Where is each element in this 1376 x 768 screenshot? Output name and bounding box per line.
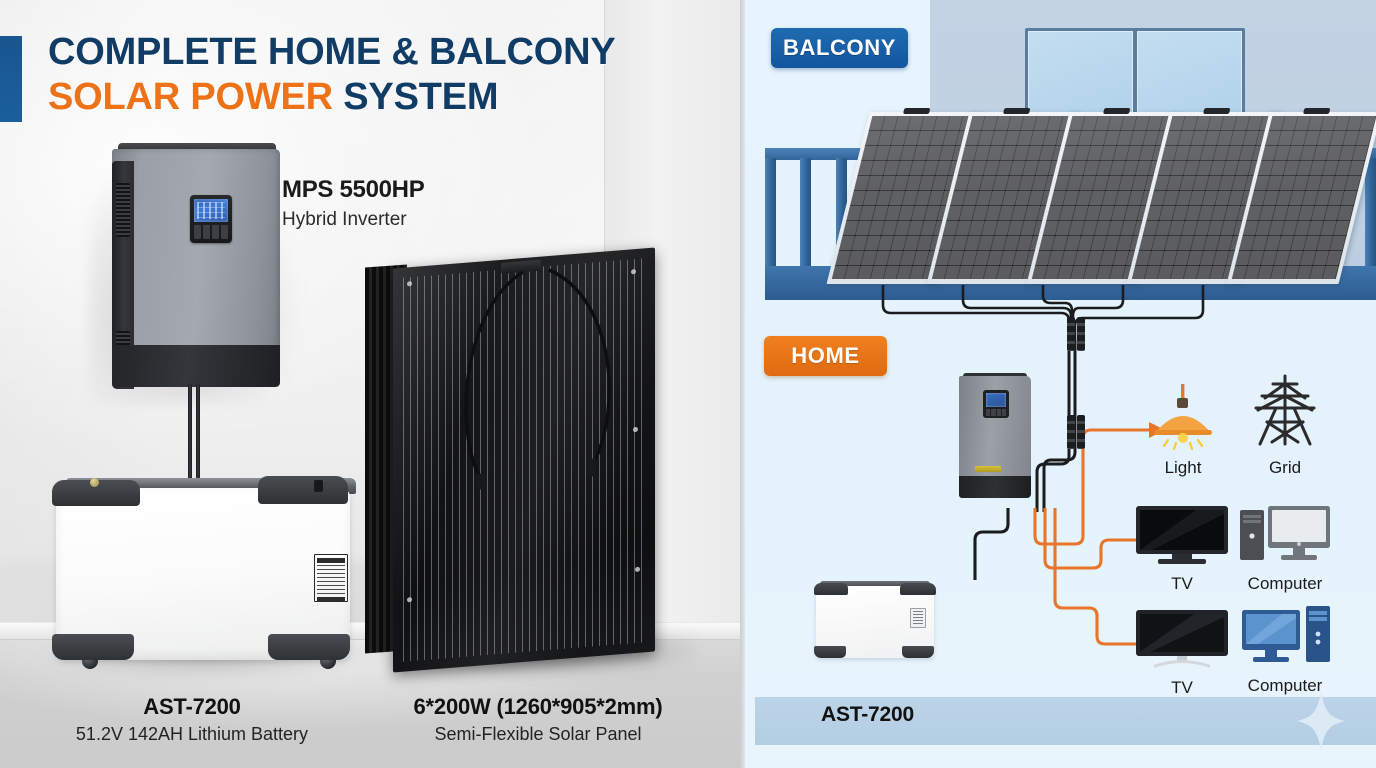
battery-diagram-corner-cap xyxy=(900,583,936,595)
balcony-solar-array xyxy=(790,112,1350,292)
appliance-computer-1: Computer xyxy=(1238,502,1332,594)
battery-caption: AST-7200 51.2V 142AH Lithium Battery xyxy=(42,694,342,745)
inverter-type-name: Hybrid Inverter xyxy=(282,209,424,231)
mc4-connector xyxy=(1077,317,1085,351)
lcd-readout-icon xyxy=(197,202,225,219)
mc4-connector-pair xyxy=(1067,415,1085,449)
panel-junction-box-icon xyxy=(903,108,930,114)
battery-diagram-label xyxy=(910,608,926,628)
window-pane xyxy=(1028,31,1133,115)
battery-diagram-corner-cap xyxy=(814,646,846,658)
title-accent-text: SOLAR POWER xyxy=(48,76,333,118)
product-photo-panel: COMPLETE HOME & BALCONY SOLAR POWER SYST… xyxy=(0,0,740,768)
solar-panel-spec-text: Semi-Flexible Solar Panel xyxy=(368,724,708,745)
solar-panel-product-photo xyxy=(365,258,685,676)
page-title: COMPLETE HOME & BALCONY SOLAR POWER SYST… xyxy=(48,30,718,120)
appliance-light: Light xyxy=(1140,384,1226,478)
inverter-model-name: MPS 5500HP xyxy=(282,176,424,204)
inverter-diagram-bottom xyxy=(959,476,1031,498)
mc4-connector-pair xyxy=(1067,317,1085,351)
keypad-key xyxy=(221,225,228,239)
inverter-diagram-body xyxy=(959,376,1031,482)
keypad-key xyxy=(212,225,219,239)
inverter-lcd-screen xyxy=(194,199,228,222)
title-line-1: COMPLETE HOME & BALCONY xyxy=(48,30,718,75)
battery-corner-cap xyxy=(268,634,350,660)
inverter-vent-upper xyxy=(116,183,130,237)
appliance-label: TV xyxy=(1134,678,1230,698)
appliance-tv-2: TV xyxy=(1134,608,1230,698)
panel-junction-box-icon xyxy=(1103,108,1130,114)
battery-port xyxy=(314,480,323,492)
appliance-computer-2: Computer xyxy=(1238,604,1332,696)
battery-diagram-corner-cap xyxy=(902,646,934,658)
window-pane xyxy=(1137,31,1242,115)
transmission-tower-icon xyxy=(1240,374,1330,450)
inverter-keypad xyxy=(194,225,228,239)
keypad-key xyxy=(194,225,201,239)
panel-junction-box-icon xyxy=(1203,108,1230,114)
mc4-connector xyxy=(1067,415,1075,449)
battery-corner-cap xyxy=(258,476,348,504)
appliance-tv-1: TV xyxy=(1134,504,1230,594)
spec-label-rows xyxy=(317,565,345,595)
solar-panel-front-face xyxy=(393,247,655,672)
bottom-band-label: AST-7200 xyxy=(821,703,914,727)
battery-model-name: AST-7200 xyxy=(42,694,342,720)
solar-panel-lead-cables xyxy=(423,251,681,522)
inverter-diagram-brand-label xyxy=(975,466,1001,472)
appliance-label: TV xyxy=(1134,574,1230,594)
battery-diagram xyxy=(812,578,938,670)
badge-balcony: BALCONY xyxy=(771,28,908,68)
keypad-key xyxy=(991,409,995,416)
battery-terminal xyxy=(90,478,99,487)
panel-junction-box-icon xyxy=(1003,108,1030,114)
appliance-grid: Grid xyxy=(1240,374,1330,478)
tv-icon xyxy=(1134,608,1230,670)
pendant-lamp-icon xyxy=(1140,384,1226,450)
spec-label-header xyxy=(317,558,345,563)
spec-label-footer xyxy=(317,597,345,602)
inverter-diagram xyxy=(955,373,1035,503)
panel-junction-box-icon xyxy=(1303,108,1330,114)
inverter-diagram-lcd xyxy=(986,393,1006,407)
desktop-computer-icon xyxy=(1238,604,1332,668)
desktop-computer-icon xyxy=(1238,502,1332,566)
inverter-bottom-housing xyxy=(112,345,280,387)
battery-spec-text: 51.2V 142AH Lithium Battery xyxy=(42,724,342,745)
inverter-diagram-control-panel xyxy=(983,390,1009,418)
battery-diagram-corner-cap xyxy=(814,583,848,595)
appliance-label: Light xyxy=(1140,458,1226,478)
solar-panel-caption: 6*200W (1260*905*2mm) Semi-Flexible Sola… xyxy=(368,694,708,745)
infographic-canvas: COMPLETE HOME & BALCONY SOLAR POWER SYST… xyxy=(0,0,1376,768)
solar-panel-model-name: 6*200W (1260*905*2mm) xyxy=(368,694,708,720)
window xyxy=(1025,28,1245,118)
appliance-label: Computer xyxy=(1238,574,1332,594)
railing-baluster xyxy=(765,158,776,268)
tv-icon xyxy=(1134,504,1230,566)
inverter-diagram-keypad xyxy=(986,409,1006,416)
inverter-control-panel xyxy=(190,195,232,243)
battery-product-photo xyxy=(46,452,366,674)
title-line-2: SOLAR POWER SYSTEM xyxy=(48,75,718,120)
battery-corner-cap xyxy=(52,634,134,660)
title-rest-text: SYSTEM xyxy=(333,76,498,118)
battery-spec-label xyxy=(314,554,348,602)
keypad-key xyxy=(986,409,990,416)
keypad-key xyxy=(1002,409,1006,416)
title-accent-bar xyxy=(0,36,22,122)
badge-home: HOME xyxy=(764,336,887,376)
railing-baluster xyxy=(1365,158,1376,268)
mc4-connector xyxy=(1077,415,1085,449)
keypad-key xyxy=(997,409,1001,416)
mc4-connector xyxy=(1067,317,1075,351)
keypad-key xyxy=(203,225,210,239)
inverter-product-photo xyxy=(104,143,285,391)
label-lines xyxy=(913,611,923,625)
appliance-label: Grid xyxy=(1240,458,1330,478)
inverter-caption: MPS 5500HP Hybrid Inverter xyxy=(282,176,424,231)
sparkle-icon xyxy=(1295,690,1347,752)
